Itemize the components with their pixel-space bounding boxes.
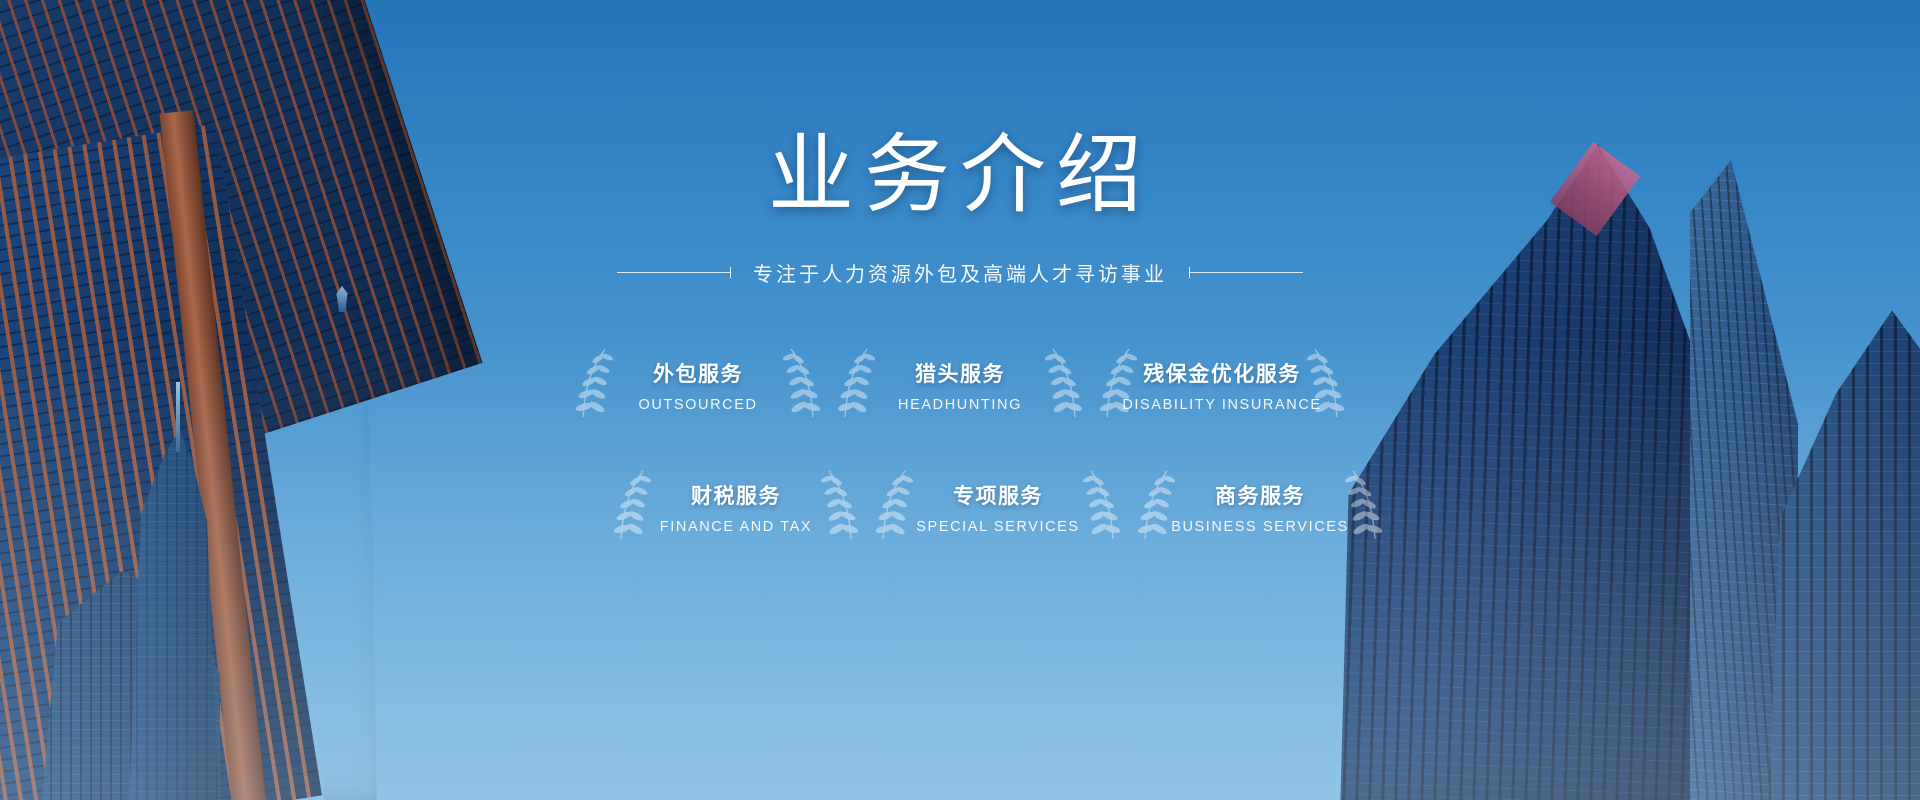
- service-item-disability-insurance[interactable]: 残保金优化服务 DISABILITY INSURANCE: [1091, 339, 1353, 431]
- laurel-branch-icon: [1095, 345, 1137, 425]
- laurel-branch-icon: [1133, 467, 1175, 547]
- service-name-en: DISABILITY INSURANCE: [1122, 397, 1321, 413]
- service-list: 外包服务 OUTSOURCED: [567, 339, 1353, 553]
- laurel-branch-icon: [871, 467, 913, 547]
- divider-line-left: [617, 272, 731, 273]
- service-name-cn: 财税服务: [691, 480, 781, 510]
- laurel-branch-icon: [1083, 467, 1125, 547]
- service-name-cn: 残保金优化服务: [1143, 358, 1301, 388]
- service-item-business-services[interactable]: 商务服务 BUSINESS SERVICES: [1129, 461, 1391, 553]
- service-name-cn: 外包服务: [653, 358, 743, 388]
- page-subtitle: 专注于人力资源外包及高端人才寻访事业: [753, 258, 1167, 287]
- service-item-headhunting[interactable]: 猎头服务 HEADHUNTING: [829, 339, 1091, 431]
- laurel-branch-icon: [571, 345, 613, 425]
- service-item-outsourced[interactable]: 外包服务 OUTSOURCED: [567, 339, 829, 431]
- laurel-branch-icon: [783, 345, 825, 425]
- service-name-cn: 猎头服务: [915, 358, 1005, 388]
- laurel-branch-icon: [1345, 467, 1387, 547]
- service-item-special-services[interactable]: 专项服务 SPECIAL SERVICES: [867, 461, 1129, 553]
- banner-content: 业务介绍 专注于人力资源外包及高端人才寻访事业: [0, 0, 1920, 800]
- laurel-branch-icon: [609, 467, 651, 547]
- laurel-branch-icon: [833, 345, 875, 425]
- service-name-en: FINANCE AND TAX: [660, 519, 812, 535]
- laurel-branch-icon: [1307, 345, 1349, 425]
- laurel-branch-icon: [1045, 345, 1087, 425]
- subtitle-row: 专注于人力资源外包及高端人才寻访事业: [617, 258, 1303, 287]
- service-name-en: OUTSOURCED: [638, 397, 757, 413]
- service-name-en: SPECIAL SERVICES: [916, 519, 1079, 535]
- laurel-branch-icon: [821, 467, 863, 547]
- business-intro-banner: 业务介绍 专注于人力资源外包及高端人才寻访事业: [0, 0, 1920, 800]
- service-name-en: HEADHUNTING: [898, 397, 1022, 413]
- page-title: 业务介绍: [768, 132, 1152, 218]
- service-item-finance-and-tax[interactable]: 财税服务 FINANCE AND TAX: [605, 461, 867, 553]
- divider-line-right: [1189, 272, 1303, 273]
- service-name-cn: 商务服务: [1215, 480, 1305, 510]
- service-name-en: BUSINESS SERVICES: [1171, 519, 1349, 535]
- service-name-cn: 专项服务: [953, 480, 1043, 510]
